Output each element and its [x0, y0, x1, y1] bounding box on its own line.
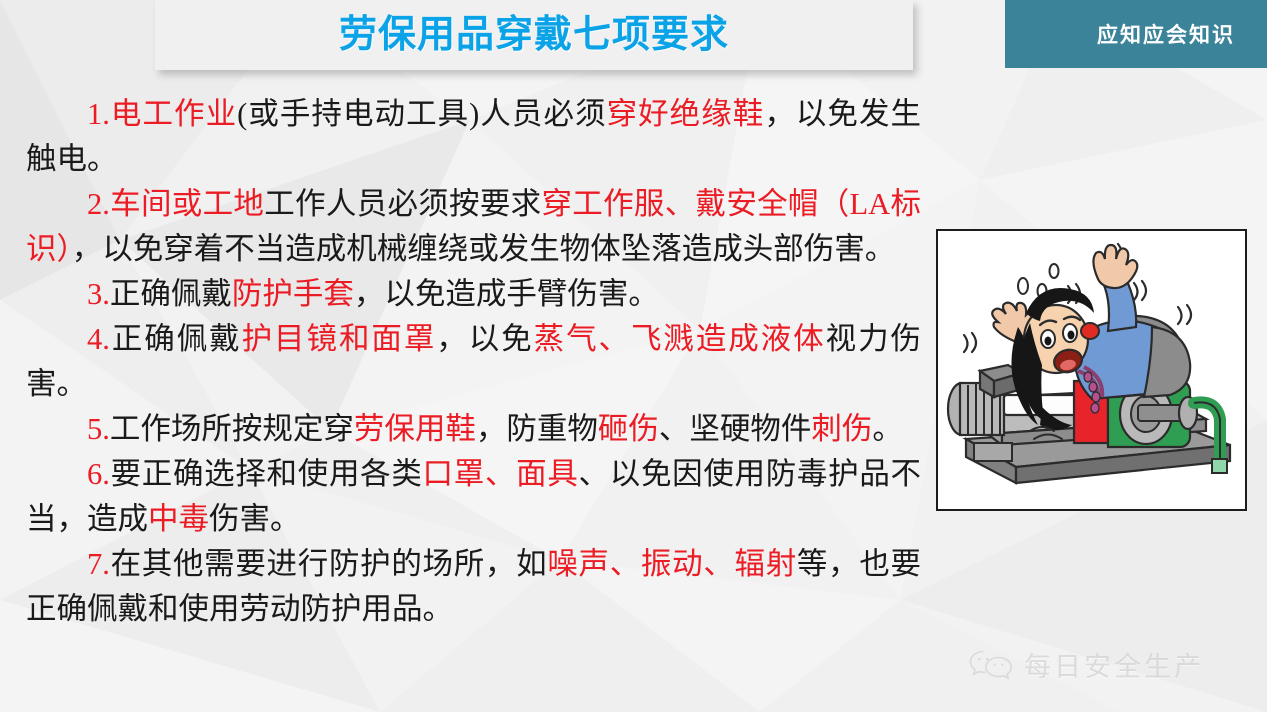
requirement-segment: 砸伤	[598, 412, 659, 446]
requirement-number: 7.	[87, 547, 110, 581]
requirements-list: 1.电工作业(或手持电动工具)人员必须穿好绝缘鞋，以免发生触电。 2.车间或工地…	[26, 92, 921, 632]
requirement-segment: 正确佩戴	[110, 322, 242, 356]
requirement-segment: 口罩、	[423, 457, 517, 491]
requirement-segment: 正确佩戴	[110, 277, 232, 311]
requirement-item-5: 5.工作场所按规定穿劳保用鞋，防重物砸伤、坚硬物件刺伤。	[26, 407, 921, 452]
lathe-entanglement-accident-icon	[938, 231, 1245, 509]
requirement-segment: 护目镜和面罩	[242, 322, 437, 356]
slide-canvas: 劳保用品穿戴七项要求 应知应会知识 1.电工作业(或手持电动工具)人员必须穿好绝…	[0, 0, 1267, 712]
wechat-icon	[968, 648, 1014, 682]
slide-title-plaque: 劳保用品穿戴七项要求	[155, 0, 913, 70]
requirement-item-4: 4.正确佩戴护目镜和面罩，以免蒸气、飞溅造成液体视力伤害。	[26, 317, 921, 407]
requirement-item-2: 2.车间或工地工作人员必须按要求穿工作服、戴安全帽（LA标识），以免穿着不当造成…	[26, 182, 921, 272]
requirement-item-7: 7.在其他需要进行防护的场所，如噪声、振动、辐射等，也要正确佩戴和使用劳动防护用…	[26, 542, 921, 632]
requirement-segment: 防护手套	[232, 277, 354, 311]
requirement-number: 5.	[87, 412, 110, 446]
requirement-number: 1.	[87, 97, 110, 131]
requirement-number: 4.	[87, 322, 110, 356]
watermark: 每日安全生产	[968, 645, 1204, 684]
requirement-segment: 在其他需要进行防护的场所，如	[110, 547, 547, 581]
requirement-segment: (或手持电动工具)人员必须	[237, 97, 606, 131]
requirement-number: 3.	[87, 277, 110, 311]
requirement-item-1: 1.电工作业(或手持电动工具)人员必须穿好绝缘鞋，以免发生触电。	[26, 92, 921, 182]
requirement-segment: 伤害。	[209, 502, 301, 536]
requirement-segment: ，以免	[436, 322, 533, 356]
requirement-segment: ，防重物	[476, 412, 598, 446]
requirement-segment: 电工作业	[110, 97, 237, 131]
requirement-segment: 车间或工地	[110, 187, 264, 221]
watermark-label: 每日安全生产	[1024, 645, 1204, 684]
accident-illustration	[936, 229, 1247, 511]
requirement-segment: 劳保用鞋	[354, 412, 476, 446]
requirement-segment: 要正确选择和使用各类	[110, 457, 423, 491]
requirement-segment: 、坚硬物件	[659, 412, 812, 446]
requirement-number: 6.	[87, 457, 110, 491]
requirement-segment: 中毒	[148, 502, 209, 536]
requirement-segment: 刺伤	[811, 412, 872, 446]
corner-banner: 应知应会知识	[1005, 0, 1267, 68]
requirement-segment: 工作场所按规定穿	[110, 412, 354, 446]
requirement-segment: 面具	[516, 457, 578, 491]
requirement-number: 2.	[87, 187, 110, 221]
requirement-segment: ，以免造成手臂伤害。	[354, 277, 659, 311]
requirement-segment: 蒸气、飞溅造成液体	[534, 322, 826, 356]
corner-banner-label: 应知应会知识	[1097, 19, 1235, 49]
requirement-segment: 噪声、振动、辐射	[547, 547, 797, 581]
page-title: 劳保用品穿戴七项要求	[339, 16, 729, 54]
requirement-item-3: 3.正确佩戴防护手套，以免造成手臂伤害。	[26, 272, 921, 317]
requirement-item-6: 6.要正确选择和使用各类口罩、面具、以免因使用防毒护品不当，造成中毒伤害。	[26, 452, 921, 542]
requirement-segment: ，以免穿着不当造成机械缠绕或发生物体坠落造成头部伤害。	[72, 232, 896, 266]
requirement-segment: 穿好绝缘鞋	[607, 97, 765, 131]
requirement-segment: 。	[872, 412, 903, 446]
requirement-segment: 工作人员必须按要求	[264, 187, 541, 221]
